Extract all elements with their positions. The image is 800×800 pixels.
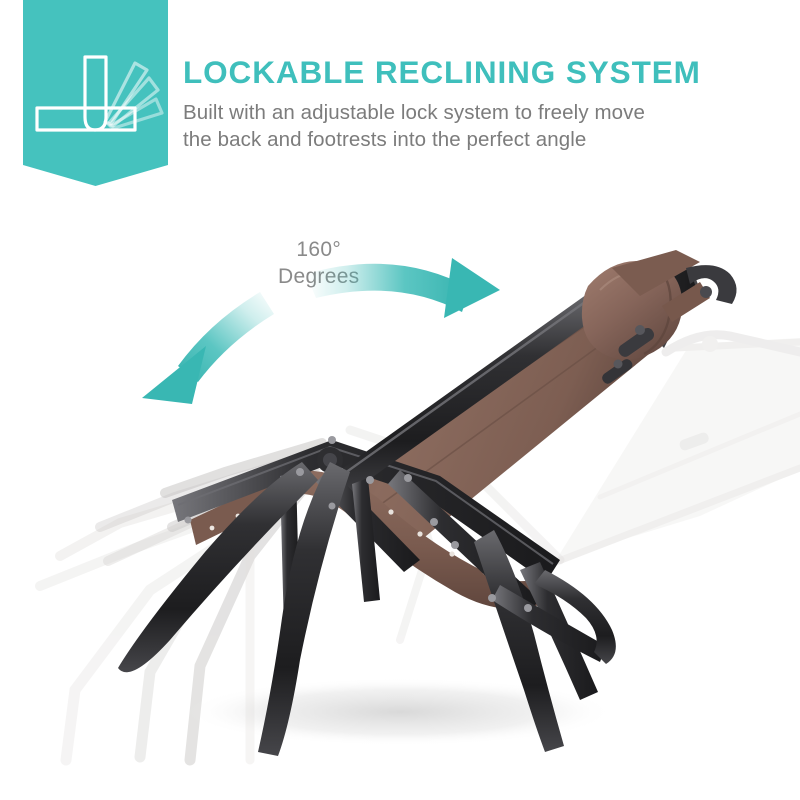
- curved-arrow-left-icon: [142, 292, 274, 404]
- top-bracket: [686, 265, 737, 304]
- backrest-seams: [352, 313, 624, 505]
- armrest-rail: [172, 440, 560, 582]
- rear-curved-tube: [534, 570, 616, 664]
- frame-bolts: [185, 436, 533, 612]
- front-leg-left: [118, 462, 318, 672]
- backrest-side-tube: [318, 292, 604, 506]
- recline-lock-hardware: [600, 325, 656, 386]
- backrest-outer-tube: [648, 268, 700, 348]
- seat-fabric: [296, 470, 548, 609]
- angle-value: 160°: [278, 237, 359, 264]
- description-line-2: the back and footrests into the perfect …: [183, 126, 795, 153]
- ghost-chair-left-1: [40, 470, 305, 760]
- ghost-chair-left-2: [100, 455, 315, 757]
- header-text-block: LOCKABLE RECLINING SYSTEM Built with an …: [183, 54, 795, 153]
- chair-main: [118, 250, 737, 756]
- adjustment-knob: [317, 447, 343, 473]
- description-line-1: Built with an adjustable lock system to …: [183, 99, 795, 126]
- ghost-chair-positions: [40, 335, 800, 760]
- rear-leg-right-2: [520, 562, 598, 700]
- headrest-pillow: [582, 261, 682, 360]
- ghost-chair-left-3: [165, 443, 326, 760]
- backrest-fabric: [338, 300, 660, 545]
- backrest-outer-tube-2: [600, 268, 696, 320]
- rear-strip-eyelets: [210, 490, 291, 531]
- headrest-strap: [662, 282, 710, 322]
- armrest-highlight: [178, 447, 553, 564]
- seat-support-frame: [280, 468, 540, 632]
- angle-unit-label: Degrees: [278, 264, 359, 291]
- rear-fabric-strip: [190, 468, 305, 545]
- angle-annotation-label: 160° Degrees: [278, 237, 359, 291]
- backrest-eyelets: [347, 321, 563, 477]
- rear-cross-brace: [492, 585, 606, 662]
- backrest-tube-highlight: [324, 297, 592, 488]
- feature-badge: [23, 0, 168, 186]
- product-feature-graphic: LOCKABLE RECLINING SYSTEM Built with an …: [0, 0, 800, 800]
- ghost-chair-midframe: [250, 430, 560, 760]
- upper-back-flap: [612, 250, 700, 296]
- floor-shadow: [185, 678, 615, 746]
- rear-leg-right: [474, 530, 564, 752]
- front-leg-center: [258, 462, 350, 756]
- ghost-chair-flat: [556, 335, 800, 562]
- seat-eyelets: [359, 487, 487, 574]
- page-title: LOCKABLE RECLINING SYSTEM: [183, 54, 795, 90]
- badge-banner-shape: [23, 0, 168, 186]
